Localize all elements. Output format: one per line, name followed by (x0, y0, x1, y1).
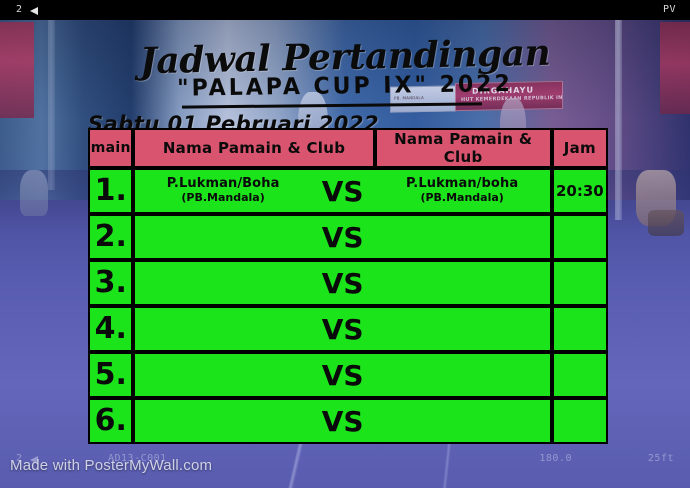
player-left-cell[interactable] (133, 398, 310, 444)
row-number: 4. (88, 306, 133, 352)
vs-label: VS (311, 214, 375, 260)
match-time[interactable] (552, 214, 608, 260)
player-right-cell[interactable] (375, 352, 552, 398)
match-time[interactable] (552, 398, 608, 444)
vs-label: VS (311, 260, 375, 306)
row-number: 5. (88, 352, 133, 398)
vs-label: VS (311, 306, 375, 352)
table-body: 1. P.Lukman/Boha (PB.Mandala) VS P.Lukma… (88, 168, 608, 444)
player-left-cell[interactable] (133, 306, 310, 352)
dvr-top-bar: 2 PV (0, 0, 690, 20)
title-underline (182, 102, 482, 108)
match-time[interactable] (552, 260, 608, 306)
column-header-time: Jam (552, 128, 608, 168)
play-left-arrow-icon (30, 7, 38, 15)
player-left-name: P.Lukman/Boha (135, 177, 310, 192)
player-right-cell[interactable] (375, 306, 552, 352)
table-header-row: main Nama Pamain & Club Nama Pamain & Cl… (88, 128, 608, 168)
row-number: 6. (88, 398, 133, 444)
column-header-player-left: Nama Pamain & Club (133, 128, 374, 168)
table-row[interactable]: 2. VS (88, 214, 608, 260)
row-number: 1. (88, 168, 133, 214)
dvr-channel-label: 2 (16, 4, 23, 15)
player-left-cell[interactable]: P.Lukman/Boha (PB.Mandala) (133, 168, 310, 214)
vs-label: VS (311, 168, 375, 214)
player-right-cell[interactable] (375, 260, 552, 306)
column-header-main: main (88, 128, 133, 168)
table-row[interactable]: 5. VS (88, 352, 608, 398)
player-left-cell[interactable] (133, 214, 310, 260)
table-row[interactable]: 1. P.Lukman/Boha (PB.Mandala) VS P.Lukma… (88, 168, 608, 214)
player-right-name: P.Lukman/boha (375, 177, 550, 192)
dvr-screen: PB. MANDALA DIRGAHAYU HUT KEMERDEKAAN RE… (0, 0, 690, 488)
postermywall-watermark: Made with PosterMyWall.com (10, 457, 212, 474)
player-left-cell[interactable] (133, 260, 310, 306)
table-row[interactable]: 3. VS (88, 260, 608, 306)
column-header-player-right: Nama Pamain & Club (375, 128, 552, 168)
vs-label: VS (311, 398, 375, 444)
player-left-club: (PB.Mandala) (135, 192, 310, 205)
player-right-cell[interactable] (375, 214, 552, 260)
row-number: 3. (88, 260, 133, 306)
poster-content: Jadwal Pertandingan "PALAPA CUP IX" 2022… (0, 20, 690, 488)
player-right-cell[interactable] (375, 398, 552, 444)
vs-label: VS (311, 352, 375, 398)
dvr-pv-label: PV (663, 4, 676, 15)
table-row[interactable]: 4. VS (88, 306, 608, 352)
match-time[interactable]: 20:30 (552, 168, 608, 214)
table-row[interactable]: 6. VS (88, 398, 608, 444)
player-right-club: (PB.Mandala) (375, 192, 550, 205)
schedule-table: main Nama Pamain & Club Nama Pamain & Cl… (88, 128, 608, 444)
match-time[interactable] (552, 306, 608, 352)
row-number: 2. (88, 214, 133, 260)
player-left-cell[interactable] (133, 352, 310, 398)
match-time[interactable] (552, 352, 608, 398)
player-right-cell[interactable]: P.Lukman/boha (PB.Mandala) (375, 168, 552, 214)
